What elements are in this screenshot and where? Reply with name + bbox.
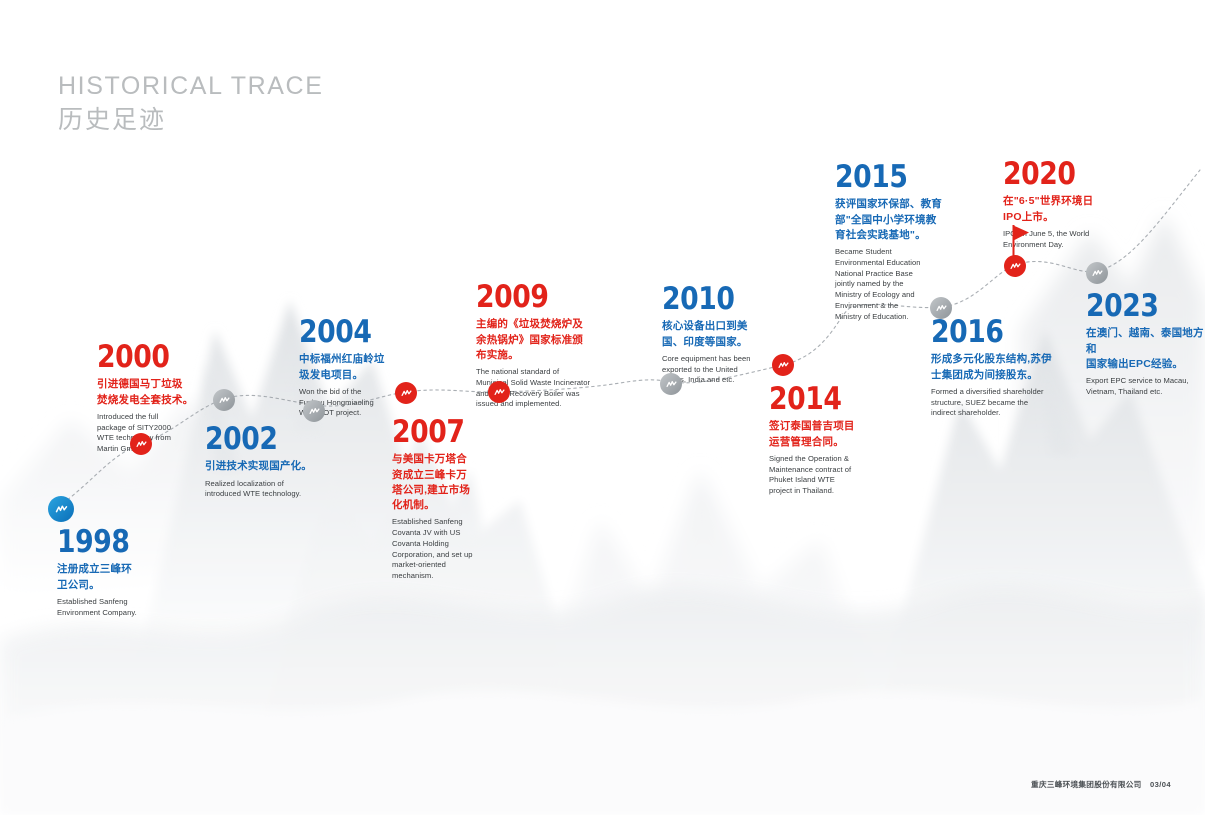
milestone-2016[interactable]: 2016形成多元化股东结构,苏伊士集团成为间接股东。Formed a diver… <box>931 318 1052 419</box>
milestone-description-en: Formed a diversified shareholderstructur… <box>931 387 1052 419</box>
milestone-2020[interactable]: 2020在"6·5"世界环境日IPO上市。IPO on June 5, the … <box>1003 160 1093 250</box>
milestone-marker-2009[interactable] <box>488 381 510 403</box>
milestone-description-en: Realized localization ofintroduced WTE t… <box>205 479 312 501</box>
milestone-marker-2014[interactable] <box>772 354 794 376</box>
milestone-year: 2004 <box>299 318 373 347</box>
footer: 重庆三峰环境集团股份有限公司 03/04 <box>1031 779 1171 790</box>
milestone-year: 2016 <box>931 318 1035 347</box>
milestone-year: 1998 <box>57 528 129 557</box>
milestone-year: 2000 <box>97 343 180 372</box>
milestone-year: 2014 <box>769 385 843 414</box>
milestone-description-cn: 形成多元化股东结构,苏伊士集团成为间接股东。 <box>931 352 1052 382</box>
milestone-year: 2015 <box>835 163 927 192</box>
sanfeng-wave-logo-icon <box>492 385 507 400</box>
milestone-year: 2007 <box>392 418 464 447</box>
milestone-2014[interactable]: 2014签订泰国普吉项目运营管理合同。Signed the Operation … <box>769 385 855 497</box>
sanfeng-wave-logo-icon <box>217 393 232 408</box>
milestone-marker-2020[interactable] <box>1004 255 1026 277</box>
sanfeng-wave-logo-icon <box>934 301 949 316</box>
milestone-year: 2020 <box>1003 160 1081 189</box>
grey-marker-4[interactable] <box>930 297 952 319</box>
sanfeng-wave-logo-icon <box>307 404 322 419</box>
milestone-description-cn: 获评国家环保部、教育部"全国中小学环境教育社会实践基地"。 <box>835 197 942 243</box>
footer-page-number: 03/04 <box>1150 780 1171 789</box>
milestone-2010[interactable]: 2010核心设备出口到美国、印度等国家。Core equipment has b… <box>662 285 751 386</box>
milestone-2007[interactable]: 2007与美国卡万塔合资成立三峰卡万塔公司,建立市场化机制。Establishe… <box>392 418 476 582</box>
milestone-description-cn: 引进技术实现国产化。 <box>205 459 312 474</box>
sanfeng-wave-logo-icon <box>664 377 679 392</box>
milestone-description-cn: 引进德国马丁垃圾焚烧发电全套技术。 <box>97 377 193 407</box>
milestone-description-en: Established SanfengCovanta JV with USCov… <box>392 517 476 582</box>
milestone-2023[interactable]: 2023在澳门、越南、泰国地方和国家输出EPC经验。Export EPC ser… <box>1086 292 1205 398</box>
sanfeng-wave-logo-icon <box>776 358 791 373</box>
milestone-description-cn: 在澳门、越南、泰国地方和国家输出EPC经验。 <box>1086 326 1205 372</box>
milestone-description-cn: 与美国卡万塔合资成立三峰卡万塔公司,建立市场化机制。 <box>392 452 476 513</box>
page-title: HISTORICAL TRACE 历史足迹 <box>58 72 323 138</box>
historical-trace-page: HISTORICAL TRACE 历史足迹 1998注册成立三峰环卫公司。Est… <box>0 0 1205 815</box>
sanfeng-wave-logo-icon <box>1090 266 1105 281</box>
milestone-marker-2007[interactable] <box>395 382 417 404</box>
milestone-description-en: Signed the Operation &Maintenance contra… <box>769 454 855 497</box>
milestone-description-cn: 核心设备出口到美国、印度等国家。 <box>662 319 751 349</box>
grey-marker-2[interactable] <box>303 400 325 422</box>
grey-marker-1[interactable] <box>213 389 235 411</box>
milestone-description-cn: 注册成立三峰环卫公司。 <box>57 562 141 592</box>
milestone-description-en: Became StudentEnvironmental EducationNat… <box>835 247 942 322</box>
grey-marker-3[interactable] <box>660 373 682 395</box>
milestone-description-cn: 在"6·5"世界环境日IPO上市。 <box>1003 194 1093 224</box>
milestone-2015[interactable]: 2015获评国家环保部、教育部"全国中小学环境教育社会实践基地"。Became … <box>835 163 942 323</box>
milestone-year: 2002 <box>205 425 297 454</box>
footer-company: 重庆三峰环境集团股份有限公司 <box>1031 780 1142 789</box>
milestone-marker-1998[interactable] <box>48 496 74 522</box>
milestone-description-en: Established SanfengEnvironment Company. <box>57 597 141 619</box>
milestone-marker-2000[interactable] <box>130 433 152 455</box>
sanfeng-wave-logo-icon <box>53 501 70 518</box>
milestone-description-en: Export EPC service to Macau,Vietnam, Tha… <box>1086 376 1205 398</box>
milestone-year: 2023 <box>1086 292 1188 321</box>
sanfeng-wave-logo-icon <box>399 386 414 401</box>
sanfeng-wave-logo-icon <box>134 437 149 452</box>
milestone-1998[interactable]: 1998注册成立三峰环卫公司。Established SanfengEnviro… <box>57 528 141 618</box>
sanfeng-wave-logo-icon <box>1008 259 1023 274</box>
milestone-2002[interactable]: 2002引进技术实现国产化。Realized localization ofin… <box>205 425 312 500</box>
milestone-description-cn: 签订泰国普吉项目运营管理合同。 <box>769 419 855 449</box>
milestone-year: 2009 <box>476 283 574 312</box>
milestone-description-en: IPO on June 5, the WorldEnvironment Day. <box>1003 229 1093 251</box>
grey-marker-5[interactable] <box>1086 262 1108 284</box>
milestone-description-cn: 主编的《垃圾焚烧炉及余热锅炉》国家标准颁布实施。 <box>476 317 590 363</box>
milestone-year: 2010 <box>662 285 738 314</box>
milestone-description-cn: 中标福州红庙岭垃圾发电项目。 <box>299 352 385 382</box>
page-title-cn: 历史足迹 <box>58 104 323 138</box>
page-title-en: HISTORICAL TRACE <box>58 72 323 101</box>
